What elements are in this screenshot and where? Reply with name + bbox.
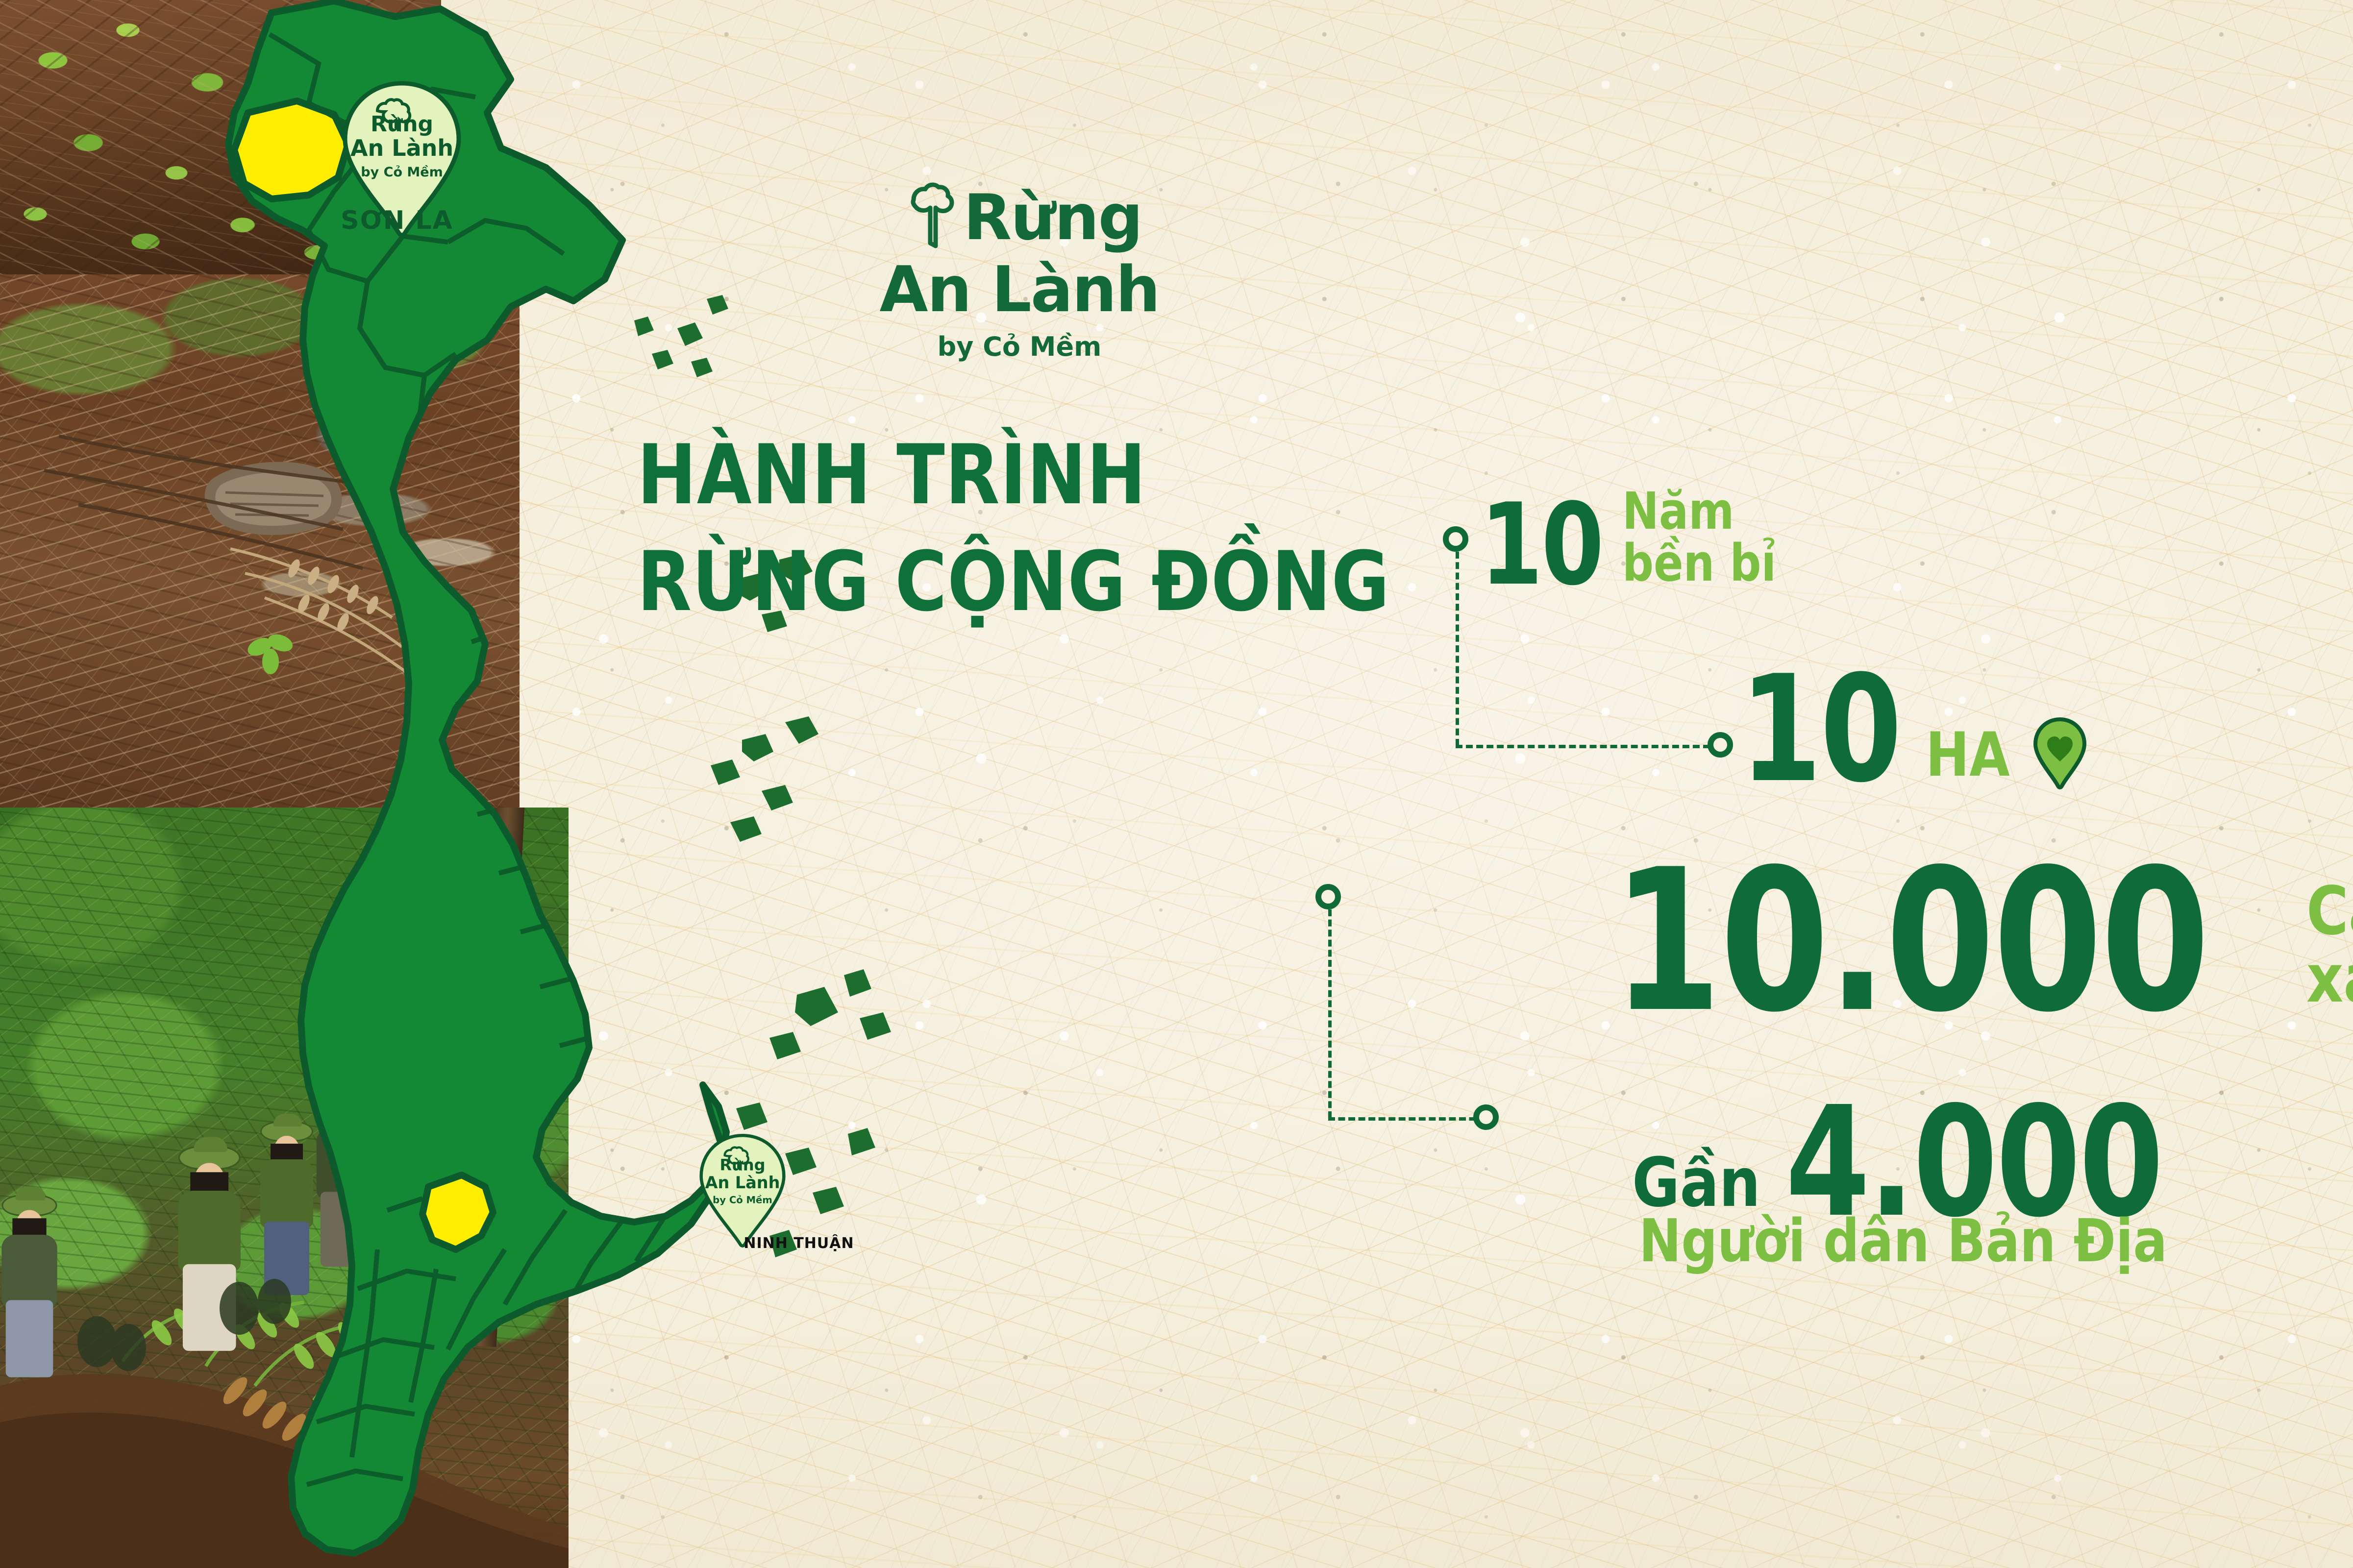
brand-line2: An Lành	[863, 257, 1176, 323]
brand-logo: Rừng An Lành by Cỏ Mềm	[863, 181, 1176, 362]
stat-hectares-value: 10	[1740, 666, 1901, 793]
province-label-ninh-thuan: NINH THUẬN	[730, 1235, 867, 1252]
tree-logo-icon	[897, 181, 956, 255]
stat-hectares-label: HA	[1926, 724, 2010, 786]
headline-line-1: HÀNH TRÌNH	[637, 421, 1354, 528]
pin-label-line1: Rừng	[719, 1156, 765, 1175]
pin-label-line1: Rừng	[371, 112, 433, 137]
connector-dot-3	[1315, 884, 1341, 909]
province-ninh-thuan	[422, 1175, 493, 1249]
brand-line1: Rừng	[964, 186, 1142, 250]
pin-label-line2: An Lành	[705, 1173, 780, 1192]
connector-line-2-vertical	[1328, 909, 1332, 1118]
infographic-canvas: Rừng An Lành by Cỏ Mềm SƠN LA Rừng An Là…	[0, 0, 2353, 1568]
connector-line-1-vertical	[1456, 552, 1459, 746]
pin-label-line3: by Cỏ Mềm	[361, 165, 443, 180]
stat-locals-label: Người dân Bản Địa	[1639, 1212, 2170, 1272]
connector-line-2-horizontal	[1328, 1117, 1486, 1121]
connector-line-1-horizontal	[1456, 745, 1720, 748]
stat-years-label-1: Năm	[1622, 485, 1776, 537]
stat-years: 10 Năm bền bỉ	[1480, 485, 1801, 594]
stat-trees-value: 10.000	[1612, 857, 2208, 1026]
connector-dot-2	[1708, 732, 1733, 758]
stat-locals: Gần 4.000 Người dân Bản Địa	[1632, 1098, 2256, 1272]
map-marker-ninh-thuan[interactable]: Rừng An Lành by Cỏ Mềm	[696, 1132, 789, 1252]
pin-label-line2: An Lành	[350, 135, 453, 161]
pin-label-line3: by Cỏ Mềm	[713, 1194, 772, 1205]
stat-years-label-2: bền bỉ	[1622, 537, 1776, 589]
vietnam-map	[162, 0, 966, 1568]
map-pin-heart-icon	[2032, 716, 2087, 790]
connector-dot-1	[1443, 526, 1468, 552]
connector-dot-4	[1473, 1104, 1499, 1130]
province-label-son-la: SƠN LA	[314, 206, 480, 235]
stat-trees: 10.000 Cây xanh	[1612, 857, 2353, 1026]
stats-panel: 10 Năm bền bỉ 10 HA 10.000 Cây xanh	[1274, 402, 2343, 1460]
headline-line-2: RỪNG CỘNG ĐỒNG	[637, 528, 1354, 635]
stat-trees-label-1: Cây	[2306, 878, 2353, 946]
stat-years-value: 10	[1480, 497, 1603, 594]
stat-hectares: 10 HA	[1740, 666, 2087, 793]
brand-byline: by Cỏ Mềm	[863, 331, 1176, 362]
stat-trees-label-2: xanh	[2306, 945, 2353, 1013]
